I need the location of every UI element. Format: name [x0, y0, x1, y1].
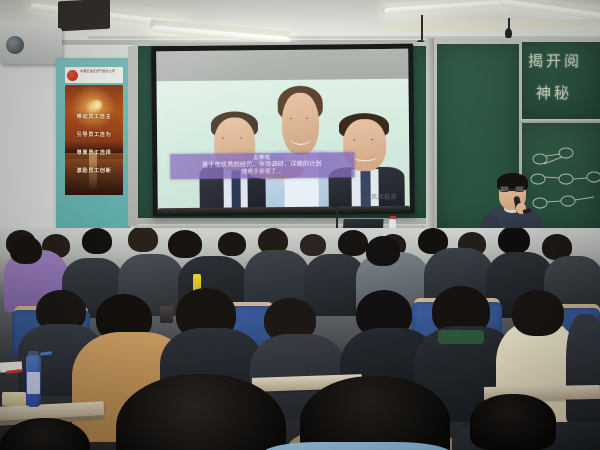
poster-line-3: 尊重员工选择	[65, 151, 123, 157]
foreground-head-far-right	[470, 394, 556, 450]
audience-head	[338, 230, 368, 256]
audience-head	[168, 230, 202, 258]
poster-line-1: 带动员工自主	[65, 115, 123, 121]
board-divider	[426, 38, 434, 236]
projector-lens-icon	[6, 36, 24, 54]
audience	[0, 228, 600, 450]
subtitle-line-3: 他终于获得了…	[173, 168, 351, 176]
audience-body	[566, 314, 600, 422]
sun-icon	[91, 99, 103, 111]
poster-logo-text: 中国石油天然气股份公司	[80, 69, 122, 73]
glasses-icon	[500, 186, 525, 192]
microphone-icon	[331, 201, 340, 208]
slide-content: 太棒啦 基于他优秀的经历、市场调研、详细的计划 他终于获得了… …风险投资	[156, 79, 409, 211]
ceiling-dark-panel	[58, 0, 110, 31]
audience-head	[366, 236, 400, 266]
black-tumbler[interactable]	[160, 306, 173, 323]
company-logo-icon	[67, 70, 78, 81]
chalk-text-line-1: 揭开阅	[528, 50, 582, 71]
audience-head	[512, 290, 564, 336]
ceiling-projector	[0, 28, 62, 64]
green-scarf	[438, 330, 484, 344]
audience-head	[10, 236, 42, 264]
screen-surface: 太棒啦 基于他优秀的经历、市场调研、详细的计划 他终于获得了… …风险投资	[156, 49, 410, 212]
chalk-text-line-2: 神秘	[536, 82, 572, 103]
slide-person-center	[267, 85, 334, 210]
slide-corner-text: …风险投资	[365, 192, 398, 201]
blackboard-right-upper-panel: 揭开阅 神秘	[522, 42, 600, 120]
audience-head	[128, 228, 158, 252]
wall-poster: 中国石油天然气股份公司 带动员工自主 引导员工自为 尊重员工选择 激励员工创新	[56, 58, 130, 234]
slide-subtitle-overlay: 太棒啦 基于他优秀的经历、市场调研、详细的计划 他终于获得了…	[170, 152, 354, 179]
bottle-label	[27, 372, 40, 394]
lecture-hall-photo: 中国石油天然气股份公司 带动员工自主 引导员工自为 尊重员工选择 激励员工创新 …	[0, 0, 600, 450]
board-frame-edge-left	[128, 46, 137, 226]
poster-header: 中国石油天然气股份公司	[65, 67, 123, 83]
audience-head	[300, 234, 326, 256]
audience-head	[498, 228, 530, 254]
projection-screen: 太棒啦 基于他优秀的经历、市场调研、详细的计划 他终于获得了… …风险投资	[151, 44, 415, 217]
poster-line-2: 引导员工自为	[65, 133, 123, 139]
light-blue-jacket	[262, 442, 452, 450]
hanging-cord	[421, 15, 423, 43]
slide-top-band	[156, 49, 408, 82]
audience-head	[218, 232, 246, 256]
audience-head	[82, 228, 112, 254]
snack[interactable]	[2, 392, 26, 406]
poster-image: 带动员工自主 引导员工自为 尊重员工选择 激励员工创新	[65, 85, 123, 195]
poster-line-4: 激励员工创新	[65, 169, 123, 175]
